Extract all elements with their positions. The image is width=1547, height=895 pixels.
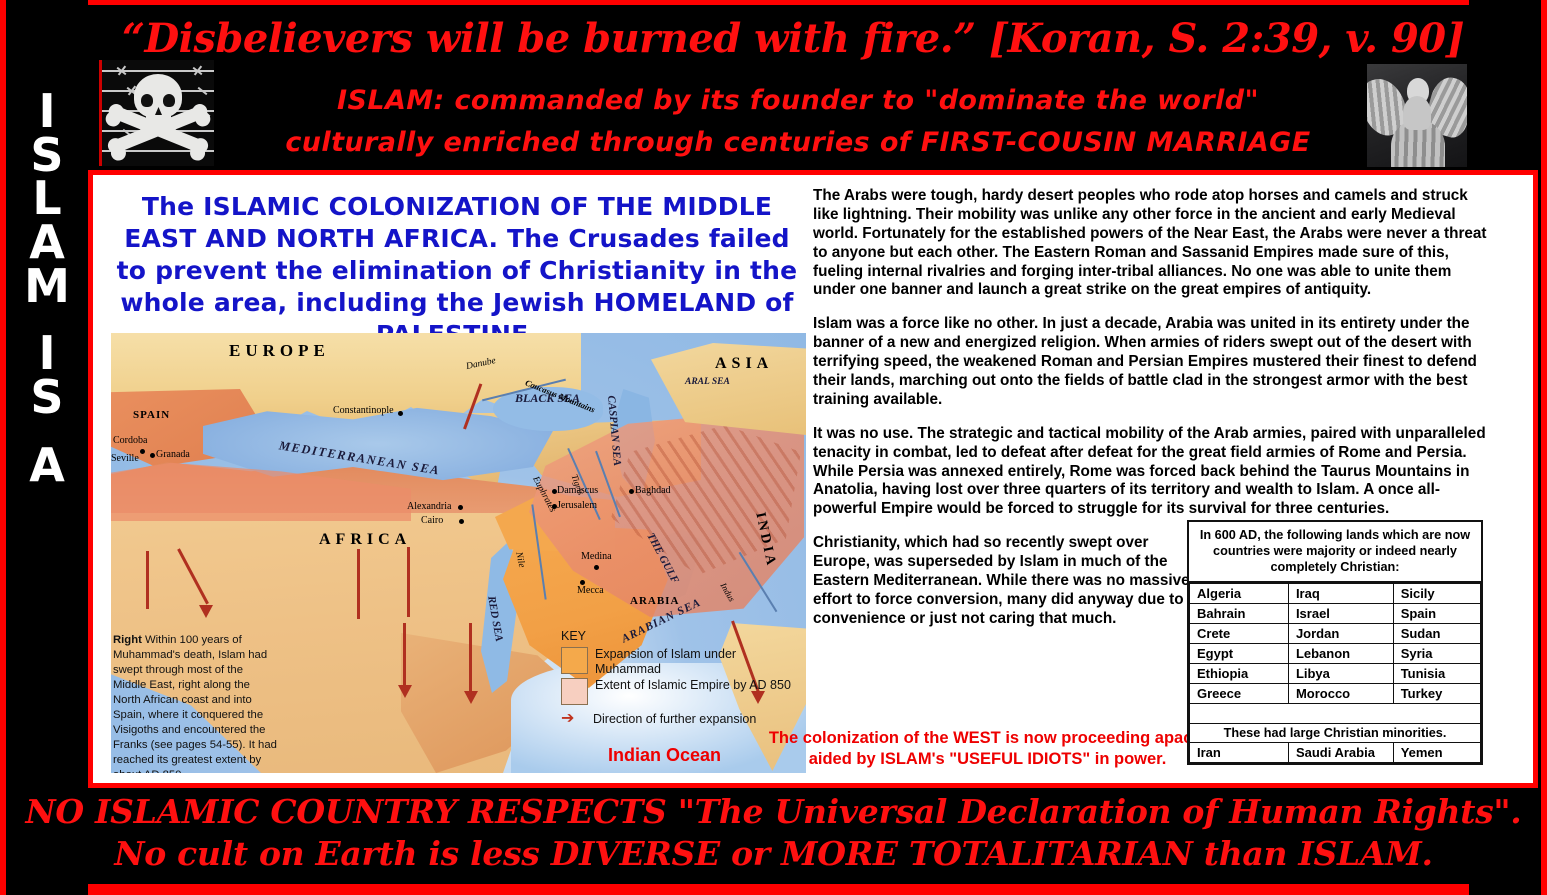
table-row: Egypt Lebanon Syria: [1190, 644, 1481, 664]
map-label-spain: SPAIN: [133, 409, 170, 421]
legend-label: Extent of Islamic Empire by AD 850: [595, 678, 791, 693]
table-cell: Algeria: [1190, 584, 1289, 604]
expansion-arrow: [469, 623, 472, 695]
table-header-note: In 600 AD, the following lands which are…: [1189, 522, 1481, 583]
map-city-granada: Granada: [156, 449, 190, 460]
table-cell: Bahrain: [1190, 604, 1289, 624]
table-cell: Turkey: [1393, 684, 1480, 704]
frame-right: [1541, 0, 1547, 895]
map-legend: KEY Expansion of Islam under Muhammad Ex…: [561, 629, 791, 729]
article-paragraph: Christianity, which had so recently swep…: [813, 534, 1208, 628]
map-city-jerusalem: Jerusalem: [557, 500, 597, 511]
subtitle-line-1: ISLAM: commanded by its founder to "domi…: [218, 85, 1378, 116]
arrow-right-icon: ➔: [561, 711, 586, 727]
rail-letter: S: [30, 376, 63, 420]
table-cell: Yemen: [1393, 743, 1480, 763]
table-row: Algeria Iraq Sicily: [1190, 584, 1481, 604]
table-cell: [1190, 704, 1481, 724]
left-vertical-rail: I S L A M I S A: [6, 0, 88, 895]
table-row: Crete Jordan Sudan: [1190, 624, 1481, 644]
table-note-row: These had large Christian minorities.: [1190, 724, 1481, 743]
legend-item: ➔ Direction of further expansion: [561, 711, 791, 727]
legend-label: Expansion of Islam under Muhammad: [595, 647, 791, 677]
article-paragraph: It was no use. The strategic and tactica…: [813, 425, 1491, 519]
table-row: Bahrain Israel Spain: [1190, 604, 1481, 624]
table-cell: Libya: [1288, 664, 1393, 684]
legend-item: Expansion of Islam under Muhammad: [561, 647, 791, 677]
map-caption: Right Within 100 years of Muhammad's dea…: [113, 633, 278, 773]
table-cell: Lebanon: [1288, 644, 1393, 664]
legend-item: Extent of Islamic Empire by AD 850: [561, 678, 791, 705]
table-cell: Morocco: [1288, 684, 1393, 704]
rail-letter: M: [24, 265, 70, 309]
map-city-cairo: Cairo: [421, 515, 443, 526]
table-cell: Ethiopia: [1190, 664, 1289, 684]
footer-line-1: NO ISLAMIC COUNTRY RESPECTS "The Univers…: [6, 792, 1541, 831]
koran-quote: “Disbelievers will be burned with fire.”…: [88, 15, 1498, 62]
expansion-arrow: [407, 547, 410, 617]
legend-swatch-icon: [561, 647, 588, 674]
table-cell: Crete: [1190, 624, 1289, 644]
map-label-indian-ocean: Indian Ocean: [608, 745, 721, 766]
poster-footer: NO ISLAMIC COUNTRY RESPECTS "The Univers…: [6, 788, 1541, 884]
table-row: Ethiopia Libya Tunisia: [1190, 664, 1481, 684]
map-city-seville: Seville: [111, 453, 139, 464]
table-cell: Jordan: [1288, 624, 1393, 644]
map-city-constantinople: Constantinople: [333, 405, 394, 416]
article-paragraph: Islam was a force like no other. In just…: [813, 315, 1491, 409]
table-cell: Sudan: [1393, 624, 1480, 644]
map-city-mecca: Mecca: [577, 585, 604, 596]
footer-line-2: No cult on Earth is less DIVERSE or MORE…: [6, 834, 1541, 873]
christian-lands-table: In 600 AD, the following lands which are…: [1187, 520, 1483, 765]
legend-label: Direction of further expansion: [593, 712, 756, 727]
weeping-angel-statue-icon: [1365, 62, 1469, 169]
table-cell: Tunisia: [1393, 664, 1480, 684]
table-cell: Sicily: [1393, 584, 1480, 604]
poster-root: I S L A M I S A M E N T A L I L L N E S …: [0, 0, 1547, 895]
page-title: The ISLAMIC COLONIZATION OF THE MIDDLE E…: [107, 191, 807, 351]
islamic-expansion-map: EUROPE ASIA AFRICA BLACK SEA CASPIAN SEA…: [111, 333, 806, 773]
frame-bottom: [0, 884, 1547, 895]
table-row: Iran Saudi Arabia Yemen: [1190, 743, 1481, 763]
legend-swatch-icon: [561, 678, 588, 705]
map-label-arabia: ARABIA: [630, 595, 679, 607]
table-row: Greece Morocco Turkey: [1190, 684, 1481, 704]
subtitle-line-2: culturally enriched through centuries of…: [208, 127, 1388, 158]
expansion-arrow: [403, 623, 406, 689]
expansion-arrow: [357, 549, 360, 619]
map-caption-body: Within 100 years of Muhammad's death, Is…: [113, 634, 277, 773]
table-cell: Greece: [1190, 684, 1289, 704]
map-label-africa: AFRICA: [319, 531, 411, 549]
map-city-baghdad: Baghdad: [635, 485, 671, 496]
table-cell: Egypt: [1190, 644, 1289, 664]
skull-and-crossbones-barbed-wire-icon: [99, 60, 214, 166]
map-city-medina: Medina: [581, 551, 612, 562]
map-city-alexandria: Alexandria: [407, 501, 451, 512]
map-caption-lead: Right: [113, 634, 142, 646]
map-label-aral-sea: ARAL SEA: [685, 377, 730, 387]
map-city-damascus: Damascus: [557, 485, 598, 496]
skull-icon: [134, 74, 182, 118]
article-paragraph: The Arabs were tough, hardy desert peopl…: [813, 187, 1491, 300]
legend-title: KEY: [561, 629, 791, 644]
table-cell: Iran: [1190, 743, 1289, 763]
map-label-asia: ASIA: [715, 355, 773, 373]
table-cell: Syria: [1393, 644, 1480, 664]
table-cell: Saudi Arabia: [1288, 743, 1393, 763]
main-white-panel: The ISLAMIC COLONIZATION OF THE MIDDLE E…: [88, 170, 1538, 788]
table-note: These had large Christian minorities.: [1190, 724, 1481, 743]
table-cell: Israel: [1288, 604, 1393, 624]
expansion-arrow: [146, 551, 149, 609]
table-cell: Iraq: [1288, 584, 1393, 604]
table-spacer-row: [1190, 704, 1481, 724]
rail-letter: A: [29, 444, 65, 488]
poster-header: “Disbelievers will be burned with fire.”…: [88, 5, 1538, 170]
map-label-europe: EUROPE: [229, 341, 330, 361]
table-cell: Spain: [1393, 604, 1480, 624]
red-callout: The colonization of the WEST is now proc…: [765, 728, 1210, 771]
map-city-cordoba: Cordoba: [113, 435, 147, 446]
